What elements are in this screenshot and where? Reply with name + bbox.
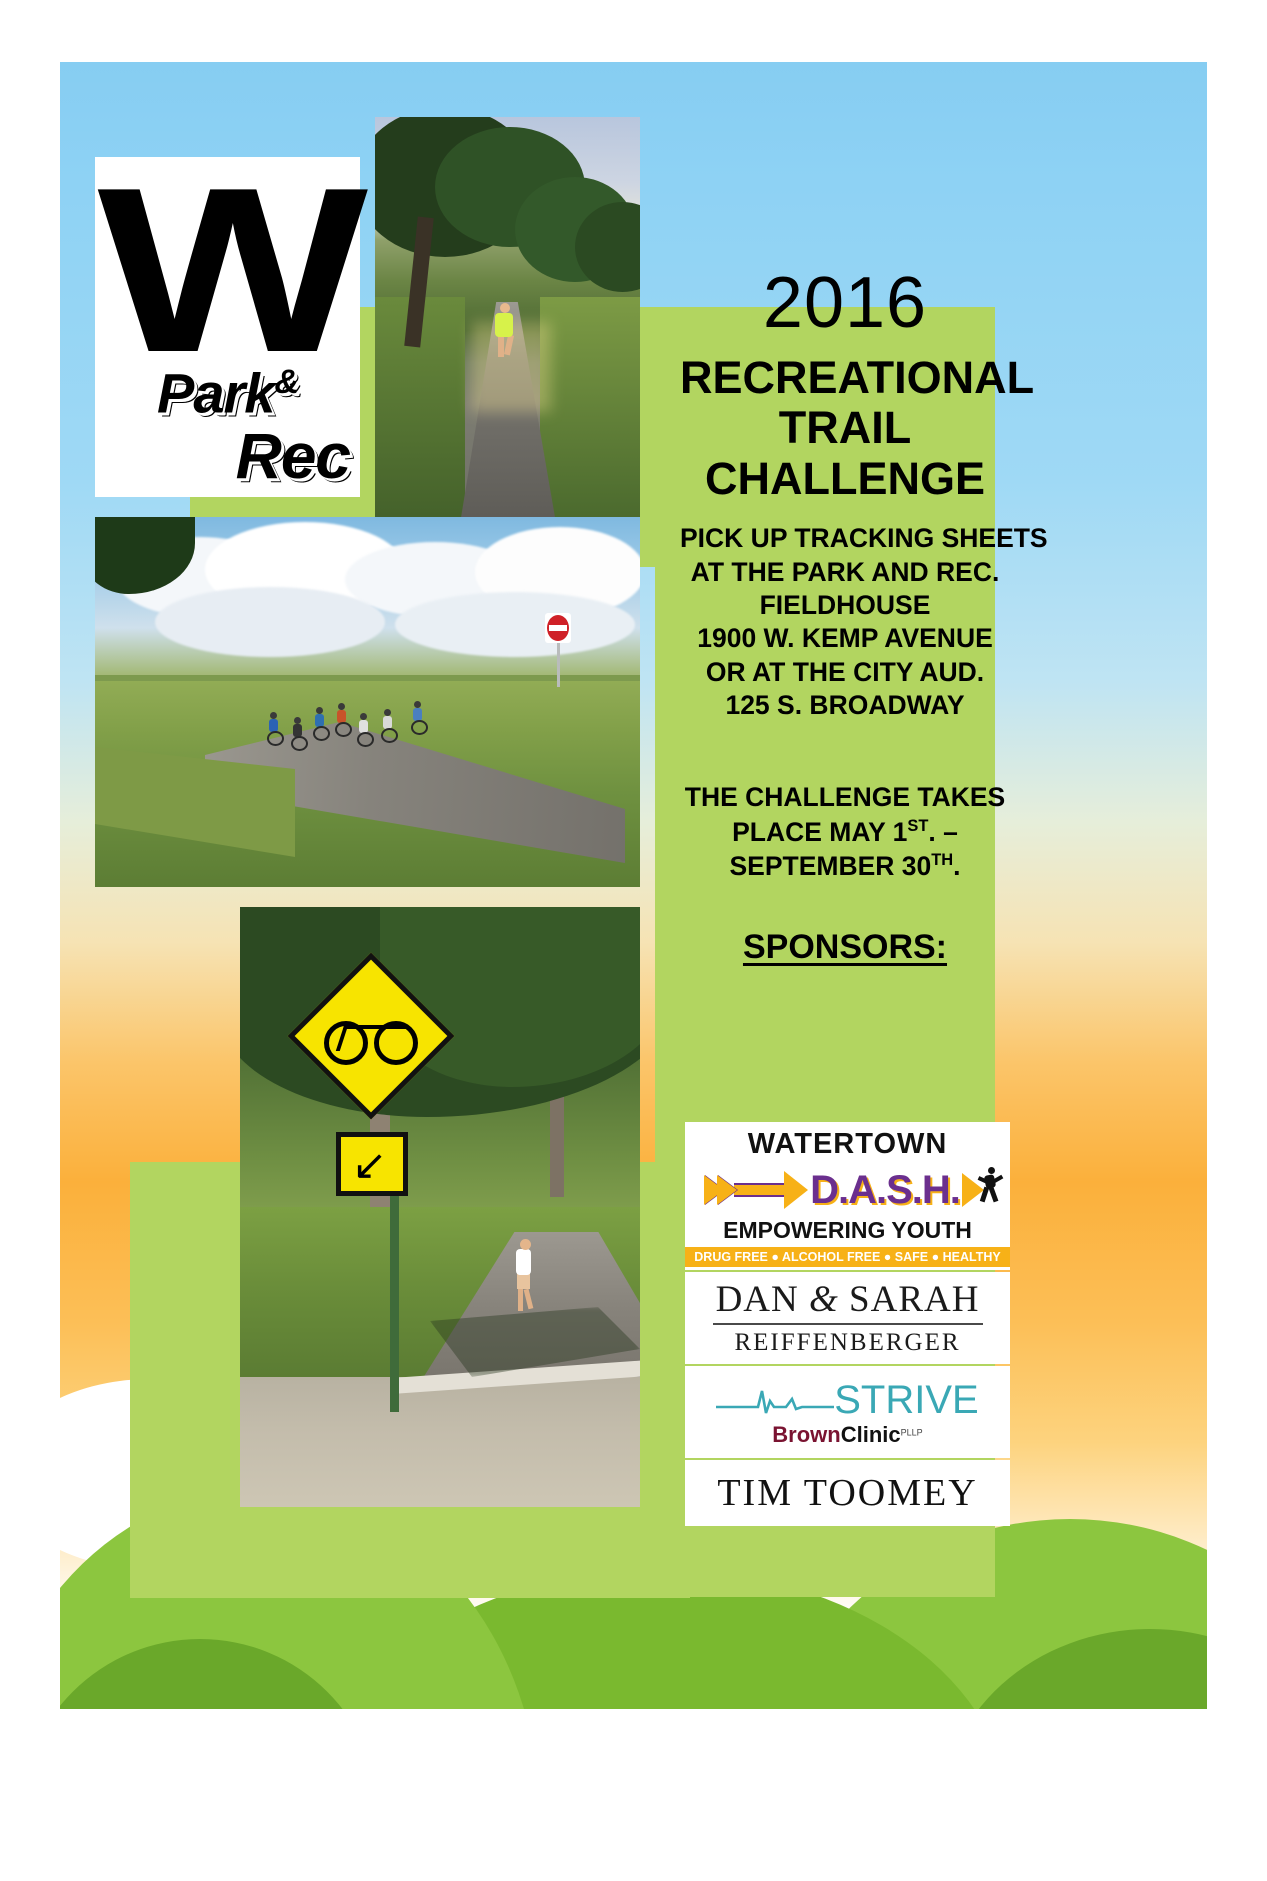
bike-crossing-sign-photo: ↙ <box>240 907 640 1507</box>
reiffenberger-sarah: SARAH <box>839 1279 980 1320</box>
strive-wordmark-row: STRIVE <box>685 1380 1010 1420</box>
tim-toomey-text: TIM TOOMEY <box>717 1471 977 1515</box>
info-line-6: 125 S. BROADWAY <box>680 689 1010 722</box>
info-line-1: PICK UP TRACKING SHEETS <box>680 522 1010 555</box>
photo-cloud <box>395 592 635 657</box>
photo-runner-body <box>495 313 513 337</box>
photo-cyclist <box>357 713 369 743</box>
headline-line-3: CHALLENGE <box>680 454 1010 504</box>
reiffenberger-surname: REIFFENBERGER <box>734 1330 960 1355</box>
reiffenberger-ampersand: & <box>809 1279 839 1320</box>
poster-year: 2016 <box>680 267 1010 339</box>
reiffenberger-dan: DAN <box>716 1279 809 1320</box>
brown-clinic-brown: Brown <box>772 1422 840 1447</box>
brown-clinic-row: BrownClinicPLLP <box>772 1422 922 1448</box>
cyclists-group-photo <box>95 517 640 887</box>
sponsor-logo-reiffenberger: DAN & SARAH REIFFENBERGER <box>685 1272 1010 1364</box>
photo-cyclist <box>411 701 423 731</box>
sponsor-logo-tim-toomey: TIM TOOMEY <box>685 1460 1010 1526</box>
photo-cyclist <box>335 703 347 733</box>
pickup-info-block: PICK UP TRACKING SHEETS AT THE PARK AND … <box>680 522 1010 722</box>
dates-end: SEPTEMBER 30 <box>729 851 931 881</box>
info-line-3: FIELDHOUSE <box>680 589 1010 622</box>
dates-line-3: SEPTEMBER 30TH. <box>680 849 1010 883</box>
arrow-down-left-icon: ↙ <box>352 1147 392 1183</box>
sponsors-heading: SPONSORS: <box>680 928 1010 967</box>
dash-values-bar: DRUG FREE ● ALCOHOL FREE ● SAFE ● HEALTH… <box>685 1247 1010 1267</box>
divider <box>713 1323 983 1325</box>
dates-dash: . – <box>928 817 957 847</box>
trail-challenge-poster: W Park& Rec <box>0 0 1267 1881</box>
dates-line-1: THE CHALLENGE TAKES <box>680 780 1010 814</box>
photo-grass-right <box>540 297 640 527</box>
running-person-icon <box>976 1167 1002 1207</box>
photo-cyclist <box>291 717 303 747</box>
heartbeat-ekg-icon <box>716 1383 834 1417</box>
dates-end-suffix: TH <box>931 851 953 869</box>
park-and-rec-logo: W Park& Rec <box>95 157 360 497</box>
dates-start: PLACE MAY 1 <box>732 817 907 847</box>
dash-tagline: EMPOWERING YOUTH <box>689 1217 1006 1244</box>
brown-clinic-clinic: Clinic <box>841 1422 901 1447</box>
poster-page: W Park& Rec <box>60 62 1207 1819</box>
dash-watertown-text: WATERTOWN <box>689 1128 1006 1161</box>
photo-gravel <box>240 1377 640 1507</box>
poster-text-column: 2016 RECREATIONAL TRAIL CHALLENGE PICK U… <box>680 267 1010 977</box>
dash-arrow-icon <box>711 1171 808 1209</box>
dates-line-2: PLACE MAY 1ST. – <box>680 815 1010 849</box>
logo-letter-w: W <box>97 169 358 371</box>
info-line-2: AT THE PARK AND REC. <box>680 556 1010 589</box>
photo-cyclist <box>313 707 325 737</box>
logo-rec-text: Rec <box>236 424 350 488</box>
headline-line-2: TRAIL <box>680 403 1010 453</box>
info-line-5: OR AT THE CITY AUD. <box>680 656 1010 689</box>
photo-cyclist <box>267 712 279 742</box>
strive-wordmark: STRIVE <box>834 1380 978 1420</box>
bicycle-icon <box>324 1015 418 1059</box>
reiffenberger-line-1: DAN & SARAH <box>716 1281 980 1318</box>
photo-cloud <box>155 587 385 657</box>
sponsor-logo-watertown-dash: WATERTOWN D.A.S.H. EMPOWERING YOUTH DRUG… <box>685 1122 1010 1270</box>
sponsor-logo-list: WATERTOWN D.A.S.H. EMPOWERING YOUTH DRUG… <box>685 1122 1010 1528</box>
challenge-dates-block: THE CHALLENGE TAKES PLACE MAY 1ST. – SEP… <box>680 780 1010 883</box>
dates-start-suffix: ST <box>907 817 928 835</box>
sponsor-logo-strive-brown-clinic: STRIVE BrownClinicPLLP <box>685 1366 1010 1458</box>
dash-wordmark: D.A.S.H. <box>810 1168 960 1213</box>
dates-end-period: . <box>953 851 960 881</box>
headline-line-1: RECREATIONAL <box>680 353 1010 403</box>
info-line-4: 1900 W. KEMP AVENUE <box>680 622 1010 655</box>
page-bottom-band <box>60 1709 1207 1819</box>
poster-headline: RECREATIONAL TRAIL CHALLENGE <box>680 353 1010 504</box>
dash-wordmark-row: D.A.S.H. <box>689 1161 1006 1219</box>
photo-runner-head <box>500 303 510 313</box>
photo-cyclist <box>381 709 393 739</box>
runner-on-trail-photo <box>375 117 640 527</box>
photo-sign-bar <box>549 625 567 631</box>
brown-clinic-suffix: PLLP <box>901 1428 923 1438</box>
photo-sign-post <box>557 643 560 687</box>
